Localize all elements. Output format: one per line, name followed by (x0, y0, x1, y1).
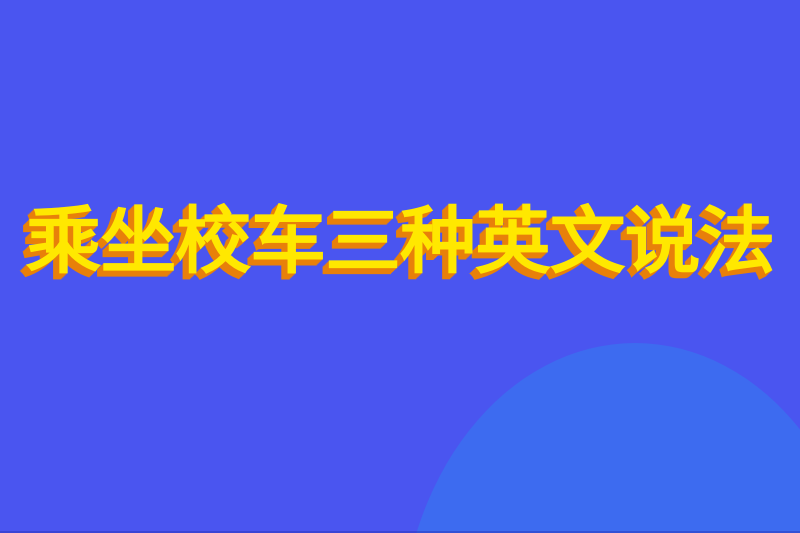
decorative-circle (400, 343, 800, 533)
poster-canvas: 乘坐校车三种英文说法 (0, 0, 800, 533)
page-title: 乘坐校车三种英文说法 (26, 205, 775, 278)
headline-container: 乘坐校车三种英文说法 (0, 205, 800, 278)
